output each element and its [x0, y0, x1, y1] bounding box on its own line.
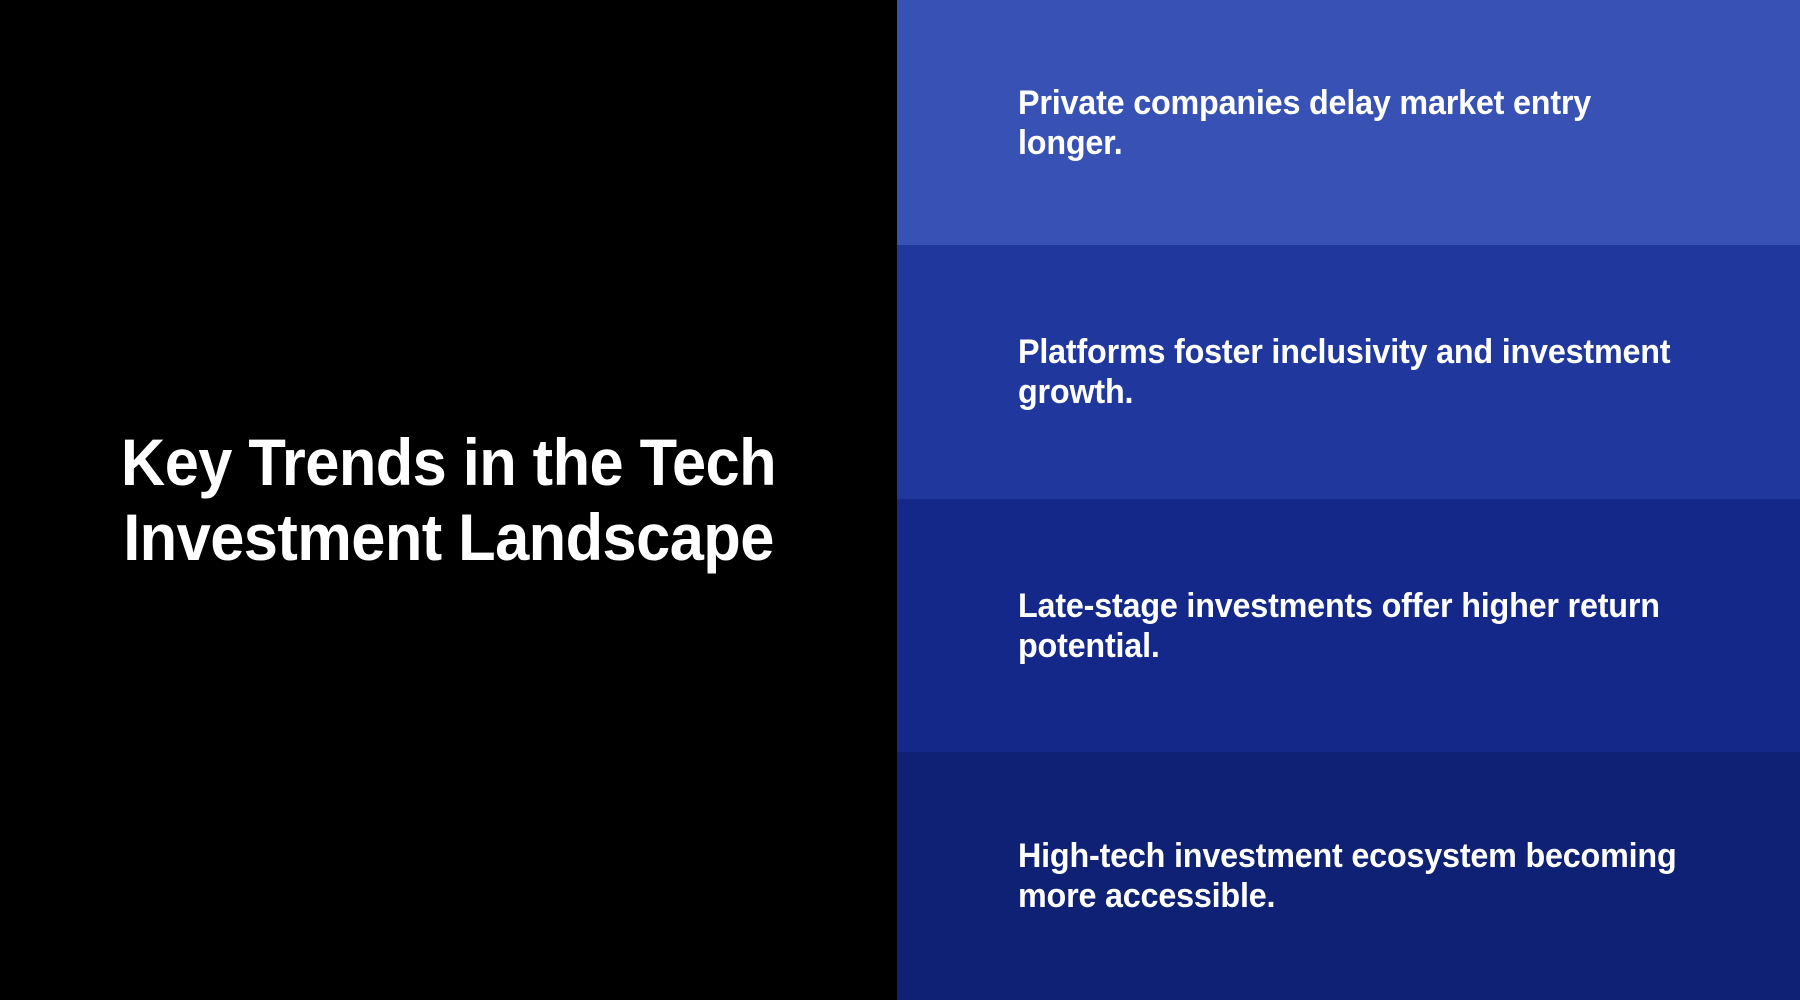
- trend-text-4: High-tech investment ecosystem becoming …: [1018, 836, 1702, 916]
- trend-text-1: Private companies delay market entry lon…: [1018, 83, 1702, 163]
- trend-panel-2[interactable]: Platforms foster inclusivity and investm…: [897, 245, 1800, 499]
- trend-text-2: Platforms foster inclusivity and investm…: [1018, 332, 1702, 412]
- trend-panel-1[interactable]: Private companies delay market entry lon…: [897, 0, 1800, 245]
- trend-text-3: Late-stage investments offer higher retu…: [1018, 586, 1702, 666]
- page-title: Key Trends in the Tech Investment Landsc…: [96, 425, 800, 575]
- presentation-slide: Key Trends in the Tech Investment Landsc…: [0, 0, 1800, 1000]
- trend-panel-4[interactable]: High-tech investment ecosystem becoming …: [897, 752, 1800, 1000]
- trends-list: Private companies delay market entry lon…: [897, 0, 1800, 1000]
- title-pane: Key Trends in the Tech Investment Landsc…: [0, 0, 897, 1000]
- trend-panel-3[interactable]: Late-stage investments offer higher retu…: [897, 499, 1800, 752]
